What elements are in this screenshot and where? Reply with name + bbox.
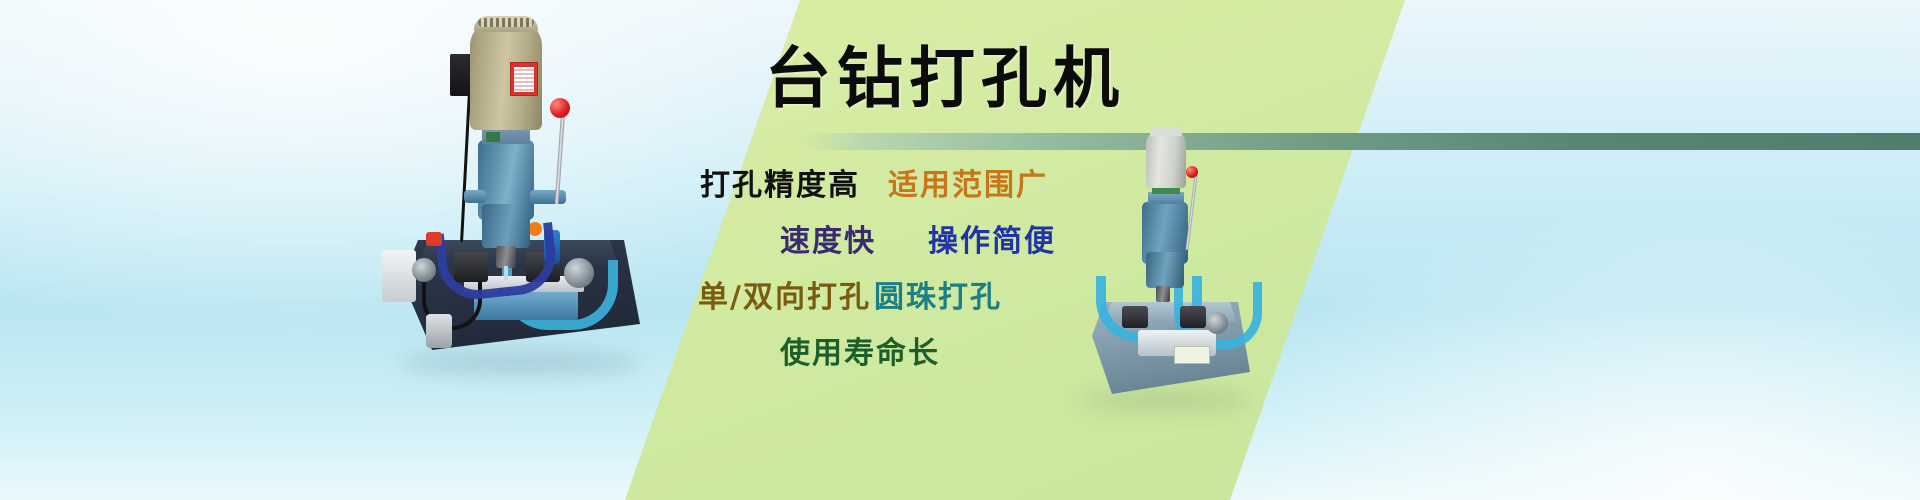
feature-item-7: 使用寿命长 <box>780 328 940 372</box>
left-machine-red-lever-knob <box>550 98 570 118</box>
title-underline-bar <box>800 133 1920 150</box>
left-product-image <box>378 14 640 362</box>
left-machine-control-box <box>382 250 416 302</box>
feature-item-2: 适用范围广 <box>888 160 1048 204</box>
right-machine-motor <box>1146 130 1186 188</box>
left-machine-handwheel-2 <box>412 258 436 282</box>
right-product-image <box>1078 130 1254 400</box>
feature-item-4: 操作简便 <box>928 216 1056 260</box>
feature-item-1: 打孔精度高 <box>700 160 860 204</box>
right-machine-handwheel <box>1206 312 1228 334</box>
page-title: 台钻打孔机 <box>765 42 1125 114</box>
left-machine-drill-chuck <box>496 246 516 268</box>
feature-item-6: 圆珠打孔 <box>874 272 1002 316</box>
product-banner: 台钻打孔机 打孔精度高 适用范围广 速度快 操作简便 单/双向打孔 圆珠打孔 使… <box>0 0 1920 500</box>
feature-item-5: 单/双向打孔 <box>698 272 871 316</box>
feature-item-3: 速度快 <box>780 216 876 260</box>
right-machine-drill-chuck <box>1156 286 1170 302</box>
left-machine-handwheel <box>564 258 594 288</box>
right-machine-red-lever-knob <box>1186 166 1198 178</box>
